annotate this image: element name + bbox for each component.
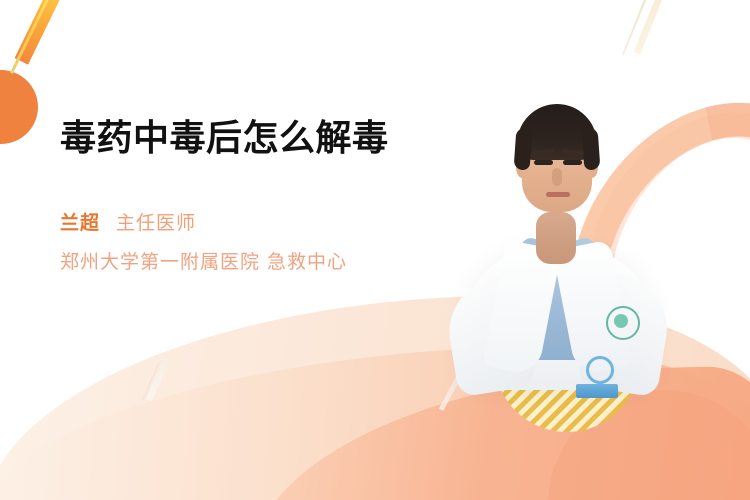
byline: 兰超 主任医师 [60, 208, 420, 235]
diagonal-thin-line-top-left [10, 0, 54, 74]
staff-id-badge [576, 384, 618, 398]
doctor-affiliation: 郑州大学第一附属医院 急救中心 [60, 247, 420, 274]
orange-circle-decor [0, 70, 38, 144]
doctor-name: 兰超 [60, 208, 100, 235]
doctor-professional-title: 主任医师 [116, 208, 196, 235]
nose [552, 168, 562, 186]
mouth [546, 192, 570, 197]
hospital-emblem-core-icon [614, 314, 628, 328]
eye-left [534, 160, 553, 165]
diagonal-stripe-top-right [634, 0, 670, 54]
hair-side-left [514, 127, 533, 170]
diagonal-thin-line-top-right [622, 0, 652, 56]
diagonal-stripe-top-left [15, 0, 69, 65]
doctor-portrait [436, 84, 672, 384]
page-title: 毒药中毒后怎么解毒 [60, 118, 420, 160]
doctor-intro-card: 毒药中毒后怎么解毒 兰超 主任医师 郑州大学第一附属医院 急救中心 [0, 0, 750, 500]
eye-right [563, 160, 582, 165]
diagonal-stripe-bottom-left [146, 359, 169, 402]
wave-blob-decor [548, 390, 750, 500]
hair-side-right [582, 127, 601, 170]
diagonal-thin-line-bottom-left [142, 362, 160, 401]
text-block: 毒药中毒后怎么解毒 兰超 主任医师 郑州大学第一附属医院 急救中心 [60, 118, 420, 274]
badge-reel-icon [586, 356, 614, 384]
neck [536, 212, 576, 264]
